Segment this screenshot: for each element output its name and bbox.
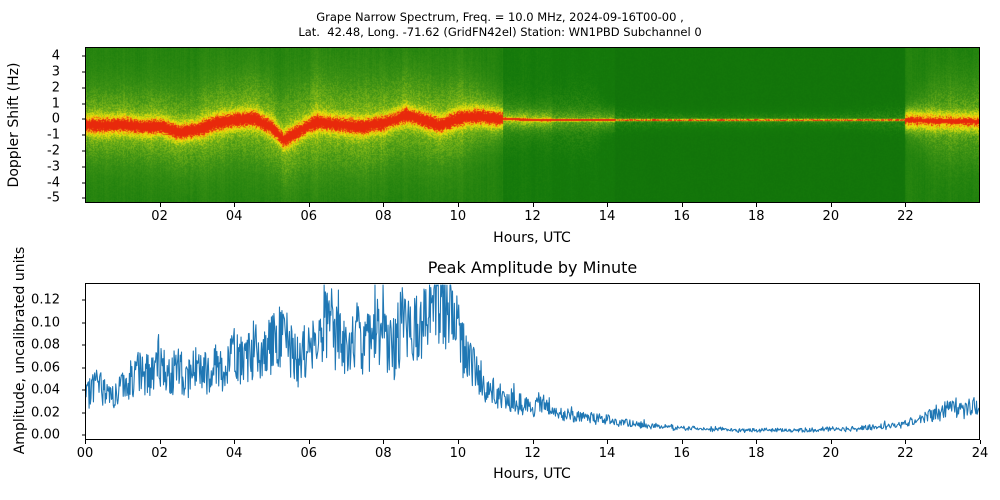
x-tick-mark: [309, 440, 310, 444]
y-tick-label: -1: [47, 128, 60, 143]
y-tick-mark: [82, 367, 86, 368]
x-tick-label: 08: [375, 209, 392, 224]
x-tick-mark: [682, 440, 683, 444]
spectrogram-x-axis-label: Hours, UTC: [493, 230, 571, 246]
y-tick-mark: [82, 299, 86, 300]
x-tick-mark: [756, 440, 757, 444]
x-tick-label: 06: [300, 209, 317, 224]
amplitude-y-axis-label: Amplitude, uncalibrated units: [12, 243, 30, 458]
x-tick-label: 10: [450, 446, 467, 461]
x-tick-mark: [234, 203, 235, 207]
x-tick-label: 08: [375, 446, 392, 461]
x-tick-mark: [533, 203, 534, 207]
y-tick-mark: [82, 412, 86, 413]
y-tick-label: 3: [52, 65, 60, 80]
y-tick-label: 1: [52, 96, 60, 111]
y-tick-mark: [82, 198, 86, 199]
y-tick-mark: [82, 103, 86, 104]
x-tick-label: 02: [151, 209, 168, 224]
y-tick-label: 0.10: [31, 315, 60, 330]
x-tick-label: 12: [524, 446, 541, 461]
y-tick-label: 0.12: [31, 292, 60, 307]
y-tick-label: 0.04: [31, 383, 60, 398]
x-tick-mark: [383, 440, 384, 444]
x-tick-label: 16: [673, 209, 690, 224]
x-tick-mark: [160, 203, 161, 207]
y-tick-label: 0: [52, 112, 60, 127]
y-tick-label: 2: [52, 80, 60, 95]
figure-suptitle: Grape Narrow Spectrum, Freq. = 10.0 MHz,…: [0, 10, 1000, 40]
y-tick-label: 0.06: [31, 360, 60, 375]
x-tick-mark: [607, 203, 608, 207]
x-tick-label: 22: [897, 446, 914, 461]
x-tick-mark: [533, 440, 534, 444]
y-tick-label: 4: [52, 49, 60, 64]
y-tick-label: -2: [47, 144, 60, 159]
y-tick-label: -5: [47, 191, 60, 206]
amplitude-plot-panel: 0.000.020.040.060.080.100.12 00020406081…: [85, 283, 980, 440]
y-tick-label: 0.02: [31, 405, 60, 420]
y-tick-mark: [82, 166, 86, 167]
amplitude-axes-frame: [85, 283, 980, 440]
y-tick-mark: [82, 135, 86, 136]
x-tick-label: 20: [823, 446, 840, 461]
suptitle-line-1: Grape Narrow Spectrum, Freq. = 10.0 MHz,…: [0, 10, 1000, 25]
amplitude-plot-title: Peak Amplitude by Minute: [85, 258, 980, 277]
x-tick-label: 00: [77, 446, 94, 461]
y-tick-mark: [82, 322, 86, 323]
spectrogram-y-axis-label: Doppler Shift (Hz): [6, 45, 24, 205]
x-tick-mark: [160, 440, 161, 444]
x-tick-label: 14: [599, 446, 616, 461]
x-tick-mark: [682, 203, 683, 207]
x-tick-label: 16: [673, 446, 690, 461]
x-tick-mark: [85, 440, 86, 444]
x-tick-label: 18: [748, 446, 765, 461]
x-tick-mark: [607, 440, 608, 444]
y-tick-mark: [82, 151, 86, 152]
amplitude-x-axis-label: Hours, UTC: [493, 466, 571, 482]
x-tick-label: 04: [226, 209, 243, 224]
x-tick-mark: [831, 203, 832, 207]
x-tick-label: 04: [226, 446, 243, 461]
y-tick-mark: [82, 72, 86, 73]
y-tick-label: -3: [47, 159, 60, 174]
x-tick-label: 24: [972, 446, 989, 461]
amplitude-line-series: [86, 284, 979, 439]
x-tick-label: 18: [748, 209, 765, 224]
y-tick-mark: [82, 87, 86, 88]
suptitle-line-2: Lat. 42.48, Long. -71.62 (GridFN42el) St…: [0, 25, 1000, 40]
x-tick-mark: [831, 440, 832, 444]
x-tick-label: 12: [524, 209, 541, 224]
y-tick-label: 0.08: [31, 338, 60, 353]
x-tick-mark: [309, 203, 310, 207]
x-tick-mark: [980, 440, 981, 444]
x-tick-mark: [905, 440, 906, 444]
spectrogram-panel: 43210-1-2-3-4-5 0204060810121416182022: [85, 47, 980, 203]
y-tick-mark: [82, 119, 86, 120]
x-tick-label: 14: [599, 209, 616, 224]
figure-canvas: Grape Narrow Spectrum, Freq. = 10.0 MHz,…: [0, 0, 1000, 500]
y-tick-mark: [82, 345, 86, 346]
y-tick-label: 0.00: [31, 428, 60, 443]
x-tick-label: 02: [151, 446, 168, 461]
x-tick-mark: [383, 203, 384, 207]
x-tick-label: 20: [823, 209, 840, 224]
x-tick-mark: [905, 203, 906, 207]
spectrogram-image: [86, 48, 979, 202]
x-tick-label: 10: [450, 209, 467, 224]
x-tick-mark: [458, 440, 459, 444]
x-tick-label: 22: [897, 209, 914, 224]
spectrogram-axes-frame: [85, 47, 980, 203]
x-tick-mark: [458, 203, 459, 207]
y-tick-mark: [82, 56, 86, 57]
amplitude-line-path: [86, 285, 979, 432]
y-tick-mark: [82, 435, 86, 436]
x-tick-mark: [234, 440, 235, 444]
y-tick-label: -4: [47, 175, 60, 190]
y-tick-mark: [82, 390, 86, 391]
y-tick-mark: [82, 182, 86, 183]
x-tick-mark: [756, 203, 757, 207]
x-tick-label: 06: [300, 446, 317, 461]
